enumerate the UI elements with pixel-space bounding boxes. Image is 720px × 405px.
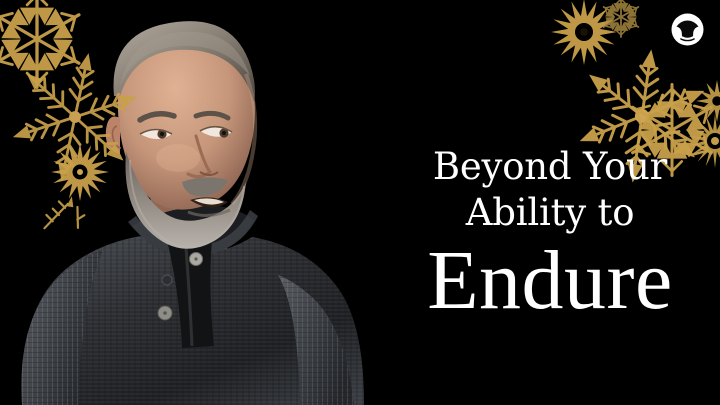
snowflake-icon (694, 78, 720, 124)
channel-logo[interactable] (671, 13, 704, 46)
snowflake-icon (548, 0, 620, 68)
title-block: Beyond Your Ability to Endure (394, 144, 706, 324)
title-line-1: Beyond Your (394, 144, 706, 190)
title-line-2: Ability to (394, 190, 706, 236)
video-thumbnail: Beyond Your Ability to Endure (0, 0, 720, 405)
man-portrait (0, 0, 400, 405)
snowflake-icon (598, 0, 644, 40)
title-line-3-emphasis: Endure (394, 238, 706, 324)
